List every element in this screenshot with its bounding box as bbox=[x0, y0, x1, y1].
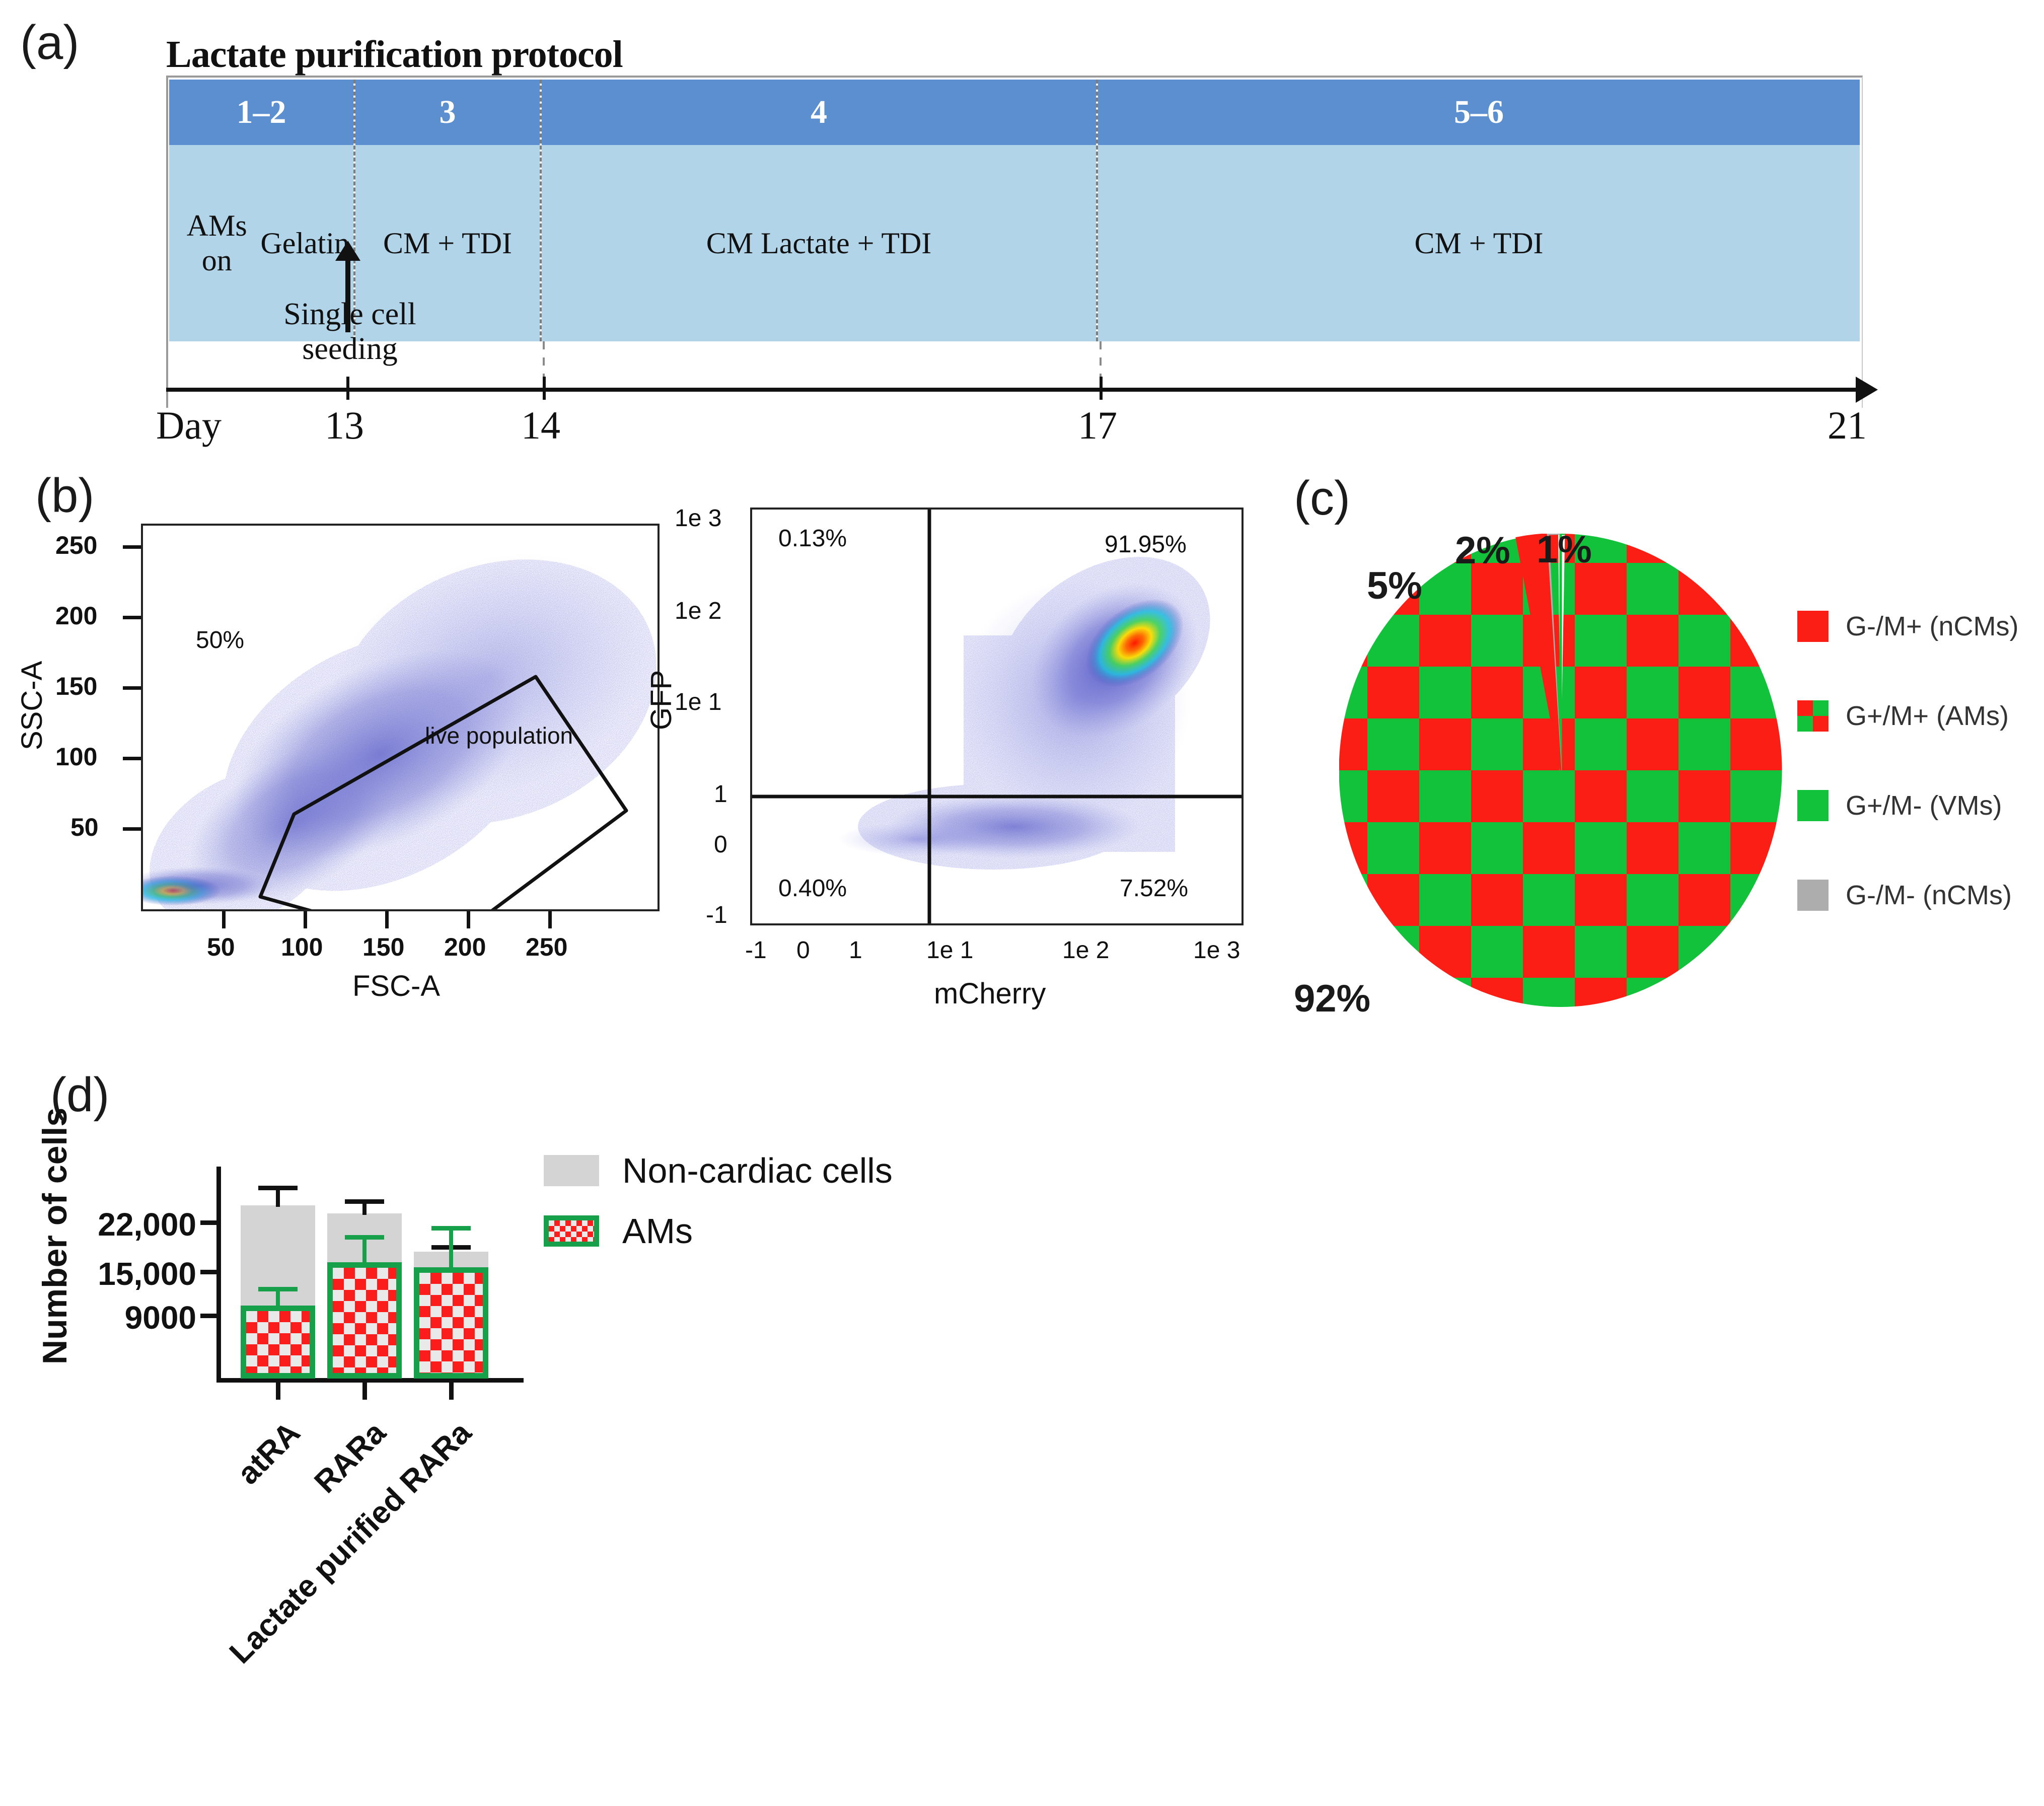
d-y-axis-title: Number of cells bbox=[35, 1108, 75, 1364]
pie-label-2pct: 2% bbox=[1455, 529, 1510, 572]
fsc-ssc-svg bbox=[143, 526, 658, 909]
gfp-ytick-label-0: 0 bbox=[714, 831, 727, 858]
step-media-text: CM + TDI bbox=[1414, 226, 1543, 261]
errorbar-ams-RARa bbox=[345, 1235, 384, 1263]
d-ytick-label-9000: 9000 bbox=[60, 1299, 196, 1336]
pie-label-92pct: 92% bbox=[1294, 977, 1370, 1021]
day-axis-arrowhead bbox=[1856, 377, 1878, 403]
d-ytick-9000 bbox=[200, 1314, 217, 1318]
xtick-label-150: 150 bbox=[362, 932, 404, 962]
errorbar-stem bbox=[276, 1287, 280, 1307]
d-x-axis bbox=[216, 1378, 524, 1383]
errorbar-ams-lactate-purified-RARa bbox=[431, 1226, 471, 1268]
panel-c: (c) 5% 2% 1% 92% bbox=[1289, 468, 2044, 1062]
legend-label: G+/M- (VMs) bbox=[1846, 790, 2002, 821]
step-media-text: CM Lactate + TDI bbox=[706, 226, 932, 261]
fsc-a-axis-title: FSC-A bbox=[352, 969, 440, 1003]
quadrant-lower-right-value: 7.52% bbox=[1120, 875, 1188, 902]
panel-d: (d) 22,000 15,000 9000 Number of cells bbox=[0, 1062, 2044, 1806]
step-media: CM + TDI bbox=[1098, 145, 1860, 341]
errorbar-stem bbox=[362, 1235, 367, 1263]
legend-swatch-ams-checker bbox=[1797, 700, 1829, 732]
legend-label: AMs bbox=[622, 1211, 693, 1251]
ytick-label-50: 50 bbox=[70, 813, 99, 842]
step-number: 4 bbox=[542, 80, 1096, 145]
fsc-ssc-scatter-plot: 50% live population bbox=[141, 524, 660, 911]
xtick-label-50: 50 bbox=[207, 932, 235, 962]
ytick-150 bbox=[123, 686, 141, 690]
gfp-ytick-label-1e1: 1e 1 bbox=[675, 688, 721, 716]
errorbar-stem bbox=[362, 1199, 367, 1215]
legend-swatch-vms-green bbox=[1797, 790, 1829, 821]
legend-item: G-/M- (nCMs) bbox=[1797, 850, 2034, 940]
day-tick-14 bbox=[543, 377, 546, 400]
errorbar-total-RARa bbox=[345, 1199, 384, 1215]
ytick-label-150: 150 bbox=[55, 672, 97, 701]
mcherry-xtick-label-1e3: 1e 3 bbox=[1193, 936, 1240, 964]
errorbar-stem bbox=[276, 1186, 280, 1207]
d-xtick-lactate bbox=[449, 1383, 454, 1400]
single-cell-seeding-label: Single cell seeding bbox=[262, 297, 438, 367]
day-axis-line bbox=[166, 388, 1863, 392]
legend-swatch-ncms-gray bbox=[1797, 880, 1829, 911]
errorbar-total-atRA bbox=[258, 1186, 298, 1207]
panel-c-letter: (c) bbox=[1294, 471, 1350, 526]
xtick-200 bbox=[467, 911, 470, 928]
protocol-step: 4 CM Lactate + TDI bbox=[542, 80, 1098, 341]
pie-label-5pct: 5% bbox=[1367, 564, 1422, 608]
bar-ams-RARa bbox=[327, 1262, 402, 1379]
quadrant-upper-right-value: 91.95% bbox=[1105, 531, 1187, 558]
ytick-label-250: 250 bbox=[55, 531, 97, 560]
xtick-100 bbox=[304, 911, 307, 928]
mcherry-xtick-label-1: 1 bbox=[849, 936, 862, 964]
ssc-a-axis-title: SSC-A bbox=[15, 661, 49, 750]
d-legend: Non-cardiac cells AMs bbox=[544, 1150, 893, 1271]
quadrant-upper-left-value: 0.13% bbox=[778, 525, 847, 552]
legend-label: Non-cardiac cells bbox=[622, 1150, 893, 1191]
gate-percent-label: 50% bbox=[196, 626, 244, 654]
seed-line1: Single cell bbox=[283, 297, 416, 331]
day-tick-17 bbox=[1100, 377, 1103, 400]
ytick-50 bbox=[123, 827, 141, 831]
protocol-step: 5–6 CM + TDI bbox=[1098, 80, 1860, 341]
legend-label: G-/M- (nCMs) bbox=[1846, 880, 2012, 911]
legend-item: G+/M- (VMs) bbox=[1797, 761, 2034, 850]
day-tick-13 bbox=[346, 377, 349, 400]
xtick-label-250: 250 bbox=[526, 932, 567, 962]
panel-b: (b) bbox=[0, 468, 1289, 1062]
legend-swatch-ams bbox=[544, 1215, 599, 1247]
legend-swatch-ncms-red bbox=[1797, 611, 1829, 642]
gfp-mcherry-scatter-plot: 0.13% 91.95% 0.40% 7.52% bbox=[750, 508, 1244, 925]
day-tick-label-21: 21 bbox=[1828, 403, 1867, 448]
mcherry-axis-title: mCherry bbox=[934, 977, 1046, 1010]
panel-a-title: Lactate purification protocol bbox=[166, 33, 623, 77]
step-media-line1: AMs on bbox=[173, 208, 260, 278]
ytick-100 bbox=[123, 757, 141, 760]
ytick-label-100: 100 bbox=[55, 742, 97, 771]
pie-legend: G-/M+ (nCMs) G+/M+ (AMs) G+/M- (VMs) G-/… bbox=[1797, 582, 2034, 940]
mcherry-xtick-label-1e1: 1e 1 bbox=[926, 936, 973, 964]
d-ytick-22000 bbox=[200, 1220, 217, 1225]
xtick-250 bbox=[548, 911, 552, 928]
xtick-label-200: 200 bbox=[444, 932, 486, 962]
legend-item: AMs bbox=[544, 1211, 893, 1251]
day-tick-label-13: 13 bbox=[325, 403, 364, 448]
d-ytick-label-22000: 22,000 bbox=[60, 1206, 196, 1243]
live-population-label: live population bbox=[425, 722, 573, 749]
mcherry-xtick-label-0: 0 bbox=[796, 936, 810, 964]
step-number: 3 bbox=[355, 80, 540, 145]
xtick-label-100: 100 bbox=[281, 932, 323, 962]
errorbar-stem bbox=[449, 1226, 453, 1268]
legend-item: G-/M+ (nCMs) bbox=[1797, 582, 2034, 671]
d-ytick-15000 bbox=[200, 1270, 217, 1274]
single-cell-seeding-arrow-head bbox=[335, 241, 360, 261]
legend-swatch-non-cardiac-cells bbox=[544, 1155, 599, 1186]
mcherry-xtick-label-neg1: -1 bbox=[745, 936, 767, 964]
mcherry-xtick-label-1e2: 1e 2 bbox=[1062, 936, 1109, 964]
bar-ams-atRA bbox=[241, 1306, 315, 1379]
d-xtick-atRA bbox=[276, 1383, 280, 1400]
gfp-ytick-label-1e3: 1e 3 bbox=[675, 504, 721, 532]
legend-label: G+/M+ (AMs) bbox=[1846, 700, 2009, 732]
gfp-axis-title: GFP bbox=[644, 670, 678, 730]
gfp-mcherry-svg bbox=[752, 510, 1242, 923]
step-number: 1–2 bbox=[169, 80, 353, 145]
step-media: CM Lactate + TDI bbox=[542, 145, 1096, 341]
day-tick-label-17: 17 bbox=[1078, 403, 1117, 448]
legend-item: Non-cardiac cells bbox=[544, 1150, 893, 1191]
ytick-200 bbox=[123, 616, 141, 619]
ytick-label-200: 200 bbox=[55, 601, 97, 630]
pie-label-1pct: 1% bbox=[1537, 528, 1592, 571]
panel-a: (a) Lactate purification protocol 1–2 AM… bbox=[0, 0, 2044, 453]
quadrant-lower-left-value: 0.40% bbox=[778, 875, 847, 902]
ytick-250 bbox=[123, 545, 141, 549]
legend-label: G-/M+ (nCMs) bbox=[1846, 611, 2019, 642]
step-number: 5–6 bbox=[1098, 80, 1860, 145]
panel-b-letter: (b) bbox=[35, 468, 94, 524]
gfp-ytick-label-1e2: 1e 2 bbox=[675, 597, 721, 625]
day-tick-label-14: 14 bbox=[521, 403, 560, 448]
gfp-ytick-label-1: 1 bbox=[714, 780, 727, 808]
xtick-150 bbox=[385, 911, 389, 928]
gfp-ytick-label-neg1: -1 bbox=[706, 901, 727, 929]
panel-a-letter: (a) bbox=[20, 15, 79, 70]
bar-ams-lactate-purified-RARa bbox=[414, 1267, 488, 1379]
legend-item: G+/M+ (AMs) bbox=[1797, 671, 2034, 761]
seed-line2: seeding bbox=[302, 332, 397, 366]
day-axis-label: Day bbox=[156, 403, 222, 448]
xtick-50 bbox=[222, 911, 226, 928]
errorbar-ams-atRA bbox=[258, 1287, 298, 1307]
step-media-text: CM + TDI bbox=[383, 226, 512, 261]
d-ytick-label-15000: 15,000 bbox=[60, 1255, 196, 1292]
d-xtick-RARa bbox=[362, 1383, 367, 1400]
